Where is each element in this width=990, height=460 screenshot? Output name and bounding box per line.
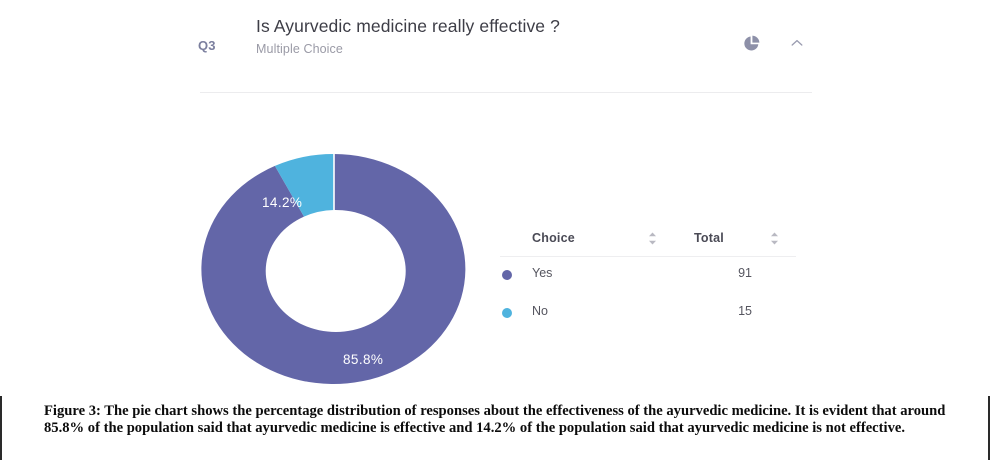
sort-total-icon[interactable] xyxy=(770,232,779,245)
question-number: Q3 xyxy=(198,38,216,53)
table-row[interactable]: Yes 91 xyxy=(498,256,798,294)
column-header-total[interactable]: Total xyxy=(694,231,724,245)
column-header-choice[interactable]: Choice xyxy=(532,231,575,245)
question-title: Is Ayurvedic medicine really effective ? xyxy=(256,16,560,37)
header-divider xyxy=(200,92,812,93)
pie-chart-icon[interactable] xyxy=(738,30,764,56)
legend-color-dot-yes xyxy=(502,270,512,280)
donut-chart: 14.2% 85.8% xyxy=(200,152,468,386)
figure-caption-box: Figure 3: The pie chart shows the percen… xyxy=(0,396,990,460)
table-row[interactable]: No 15 xyxy=(498,294,798,332)
choice-total: 91 xyxy=(694,266,752,280)
choice-total: 15 xyxy=(694,304,752,318)
choices-table: Choice Total Yes xyxy=(498,228,798,332)
question-header: Q3 Is Ayurvedic medicine really effectiv… xyxy=(198,14,812,76)
table-header-row: Choice Total xyxy=(498,228,798,256)
legend-color-dot-no xyxy=(502,308,512,318)
question-header-actions xyxy=(738,30,812,60)
sort-choice-icon[interactable] xyxy=(648,232,657,245)
figure-caption: Figure 3: The pie chart shows the percen… xyxy=(44,403,976,438)
choice-label: Yes xyxy=(532,266,552,280)
survey-question-card: Q3 Is Ayurvedic medicine really effectiv… xyxy=(0,0,990,395)
figure-page: Q3 Is Ayurvedic medicine really effectiv… xyxy=(0,0,990,460)
choice-label: No xyxy=(532,304,548,318)
chevron-up-icon[interactable] xyxy=(784,30,810,56)
question-type-label: Multiple Choice xyxy=(256,42,343,56)
donut-chart-svg xyxy=(200,152,468,386)
